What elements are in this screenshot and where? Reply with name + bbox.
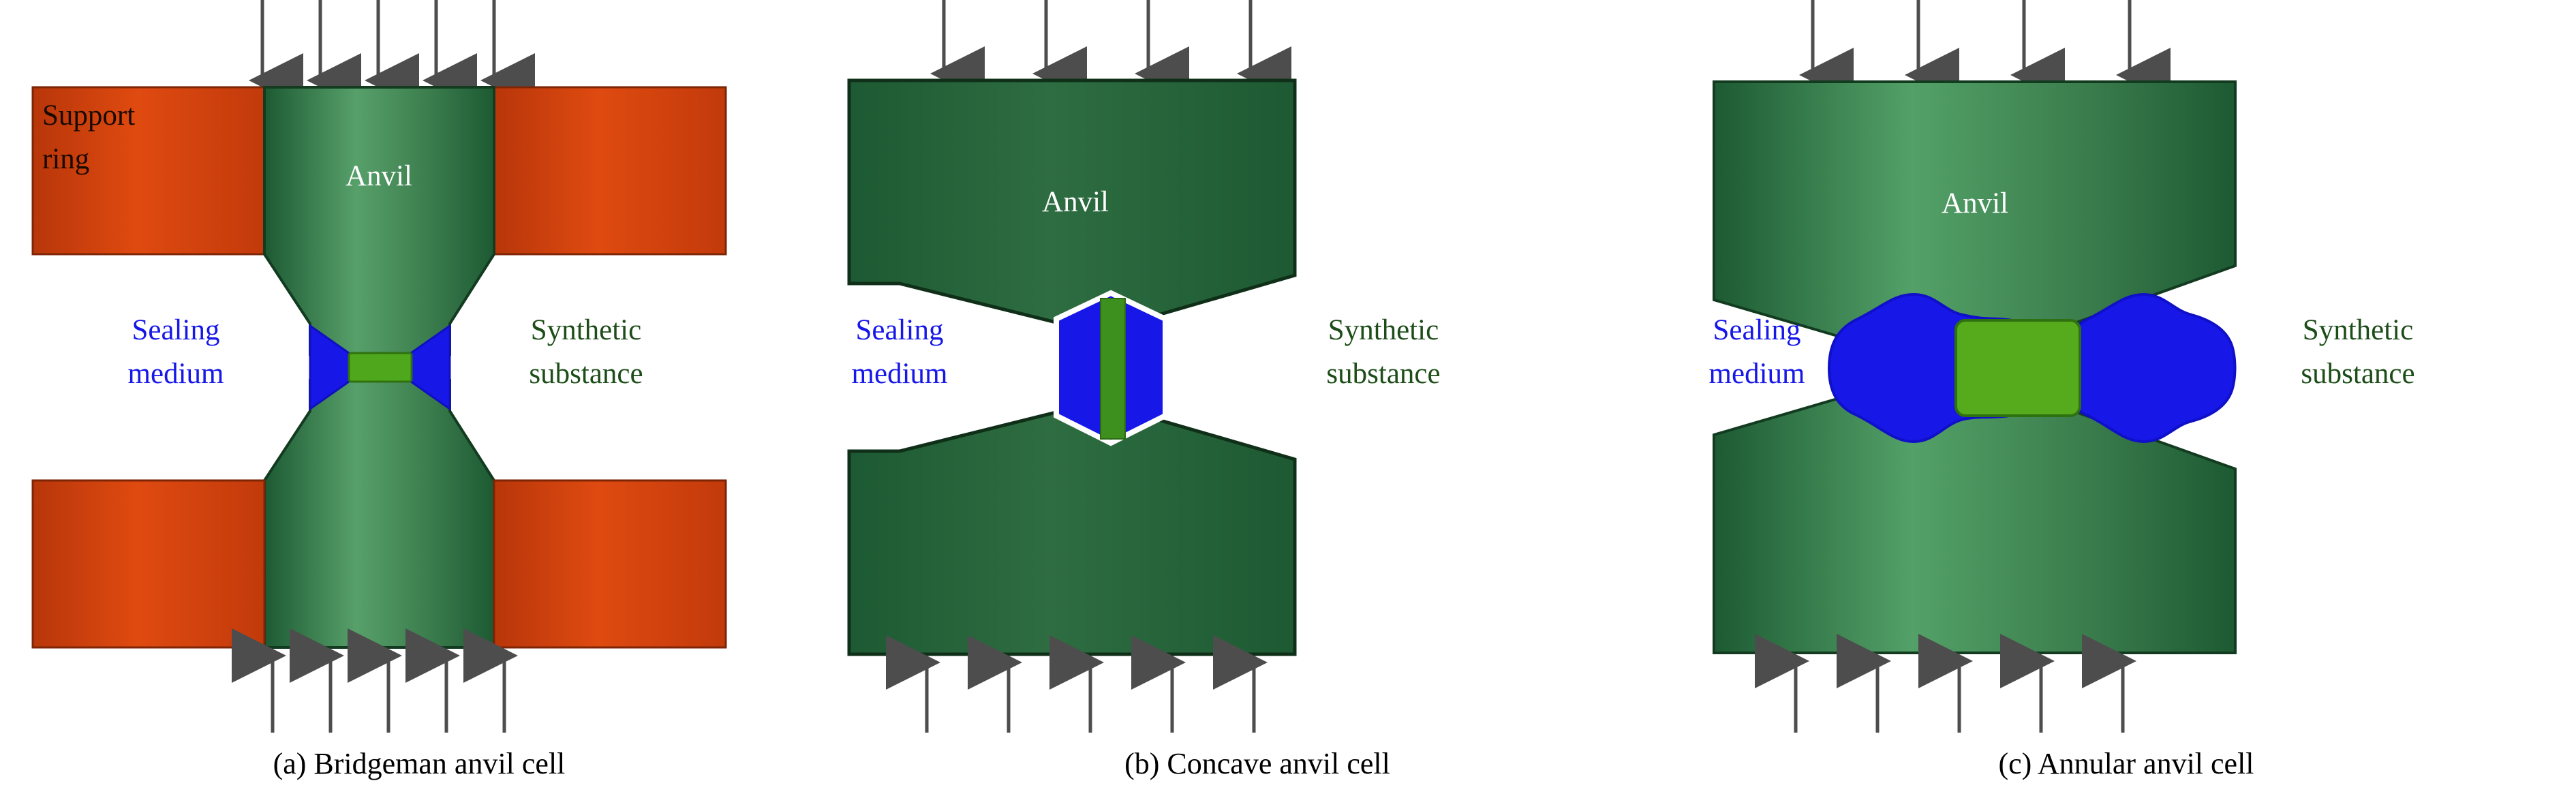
synthetic-substance-sample: [1101, 298, 1125, 439]
label-anvil: Anvil: [1942, 187, 2008, 219]
panel-bridgeman-anvil-cell: Support ring Anvil Sealing medium Synthe…: [0, 0, 838, 796]
label-sealing-medium-line2: medium: [852, 358, 948, 390]
support-ring-top-right: [494, 87, 726, 254]
bottom-force-arrows: [273, 656, 504, 733]
bottom-force-arrows: [927, 662, 1254, 733]
label-sealing-medium-line1: Sealing: [856, 314, 944, 346]
label-sealing-medium-line1: Sealing: [132, 314, 220, 346]
label-synthetic-substance-line2: substance: [529, 358, 643, 390]
panel-b-caption: (b) Concave anvil cell: [838, 746, 1676, 781]
panel-c-diagram: Anvil Sealing medium Synthetic substance: [1676, 0, 2576, 750]
anvil-bottom: [264, 380, 494, 647]
support-ring-bottom-left: [33, 480, 264, 647]
panel-a-caption: (a) Bridgeman anvil cell: [0, 746, 838, 781]
top-force-arrows: [1813, 0, 2130, 75]
panel-a-diagram: Support ring Anvil Sealing medium Synthe…: [0, 0, 838, 750]
synthetic-substance-sample: [1956, 320, 2080, 416]
label-support-ring-line1: Support: [42, 99, 135, 132]
anvil-top: [264, 87, 494, 354]
panel-b-diagram: Anvil Sealing medium Synthetic substance: [838, 0, 1676, 750]
synthetic-substance-sample: [349, 353, 412, 382]
support-ring-bottom-right: [494, 480, 726, 647]
anvil-bottom: [849, 402, 1295, 654]
label-sealing-medium-line2: medium: [1709, 358, 1805, 390]
label-synthetic-substance-line1: Synthetic: [531, 314, 641, 346]
label-synthetic-substance-line1: Synthetic: [2303, 314, 2413, 346]
bottom-force-arrows: [1796, 661, 2123, 733]
label-anvil: Anvil: [346, 160, 412, 192]
top-force-arrows: [262, 0, 494, 80]
label-synthetic-substance-line1: Synthetic: [1328, 314, 1439, 346]
label-support-ring-line2: ring: [42, 143, 89, 175]
anvil-cell-figure: Support ring Anvil Sealing medium Synthe…: [0, 0, 2576, 796]
label-anvil: Anvil: [1042, 186, 1109, 218]
panel-concave-anvil-cell: Anvil Sealing medium Synthetic substance…: [838, 0, 1676, 796]
top-force-arrows: [944, 0, 1251, 74]
label-sealing-medium-line1: Sealing: [1713, 314, 1801, 346]
label-synthetic-substance-line2: substance: [2301, 358, 2414, 390]
panel-c-caption: (c) Annular anvil cell: [1676, 746, 2576, 781]
label-sealing-medium-line2: medium: [128, 358, 224, 390]
label-synthetic-substance-line2: substance: [1326, 358, 1440, 390]
panel-annular-anvil-cell: Anvil Sealing medium Synthetic substance…: [1676, 0, 2576, 796]
